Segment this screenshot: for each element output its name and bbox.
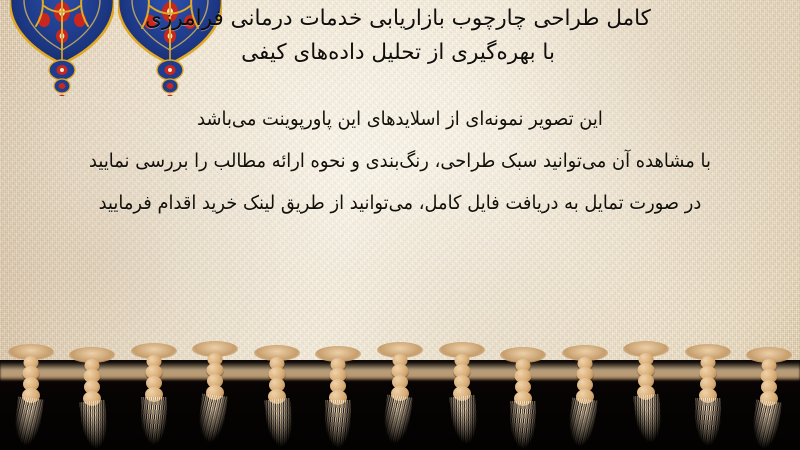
fringe-brush <box>12 396 44 447</box>
fringe-brush <box>633 394 664 444</box>
fringe-brush <box>449 395 480 445</box>
fringe-brush <box>325 400 351 448</box>
fringe-tassel <box>132 351 176 449</box>
fringe-tassel <box>440 350 484 448</box>
body-line-2: با مشاهده آن می‌توانید سبک طراحی، رنگ‌بن… <box>37 146 763 177</box>
fringe-brush <box>264 398 295 448</box>
fringe-brush <box>695 398 721 446</box>
title-line-2: با بهره‌گیری از تحلیل داده‌های کیفی <box>14 36 782 70</box>
fringe-brush <box>510 401 536 449</box>
fringe-tassel <box>255 353 299 450</box>
slide-title: کامل طراحی چارچوب بازاریابی خدمات درمانی… <box>0 2 800 70</box>
fringe-tassel <box>624 349 668 447</box>
fringe-tassel <box>70 355 114 450</box>
slide-text-layer: کامل طراحی چارچوب بازاریابی خدمات درمانی… <box>0 0 800 378</box>
carpet-fringe-tassels <box>0 352 800 450</box>
fringe-tassel <box>501 355 545 450</box>
title-line-1: کامل طراحی چارچوب بازاریابی خدمات درمانی… <box>14 2 782 36</box>
body-line-3: در صورت تمایل به دریافت فایل کامل، می‌تو… <box>37 188 763 219</box>
fringe-brush <box>141 397 167 445</box>
fringe-tassel <box>316 354 360 450</box>
fringe-tassel <box>9 352 53 450</box>
fringe-brush <box>197 394 229 445</box>
body-line-1: این تصویر نمونه‌ای از اسلایدهای این پاور… <box>37 104 763 135</box>
fringe-tassel <box>563 353 607 450</box>
body-spacer-2 <box>14 177 786 188</box>
body-spacer <box>14 135 786 146</box>
fringe-tassel <box>378 350 422 448</box>
slide-canvas: کامل طراحی چارچوب بازاریابی خدمات درمانی… <box>0 0 800 450</box>
slide-body: این تصویر نمونه‌ای از اسلایدهای این پاور… <box>0 104 800 219</box>
fringe-tassel <box>747 355 791 450</box>
fringe-tassel <box>686 352 730 450</box>
fringe-brush <box>381 394 413 445</box>
fringe-brush <box>750 399 782 450</box>
fringe-brush <box>566 398 598 449</box>
fringe-tassel <box>193 349 237 447</box>
fringe-brush <box>79 400 110 450</box>
